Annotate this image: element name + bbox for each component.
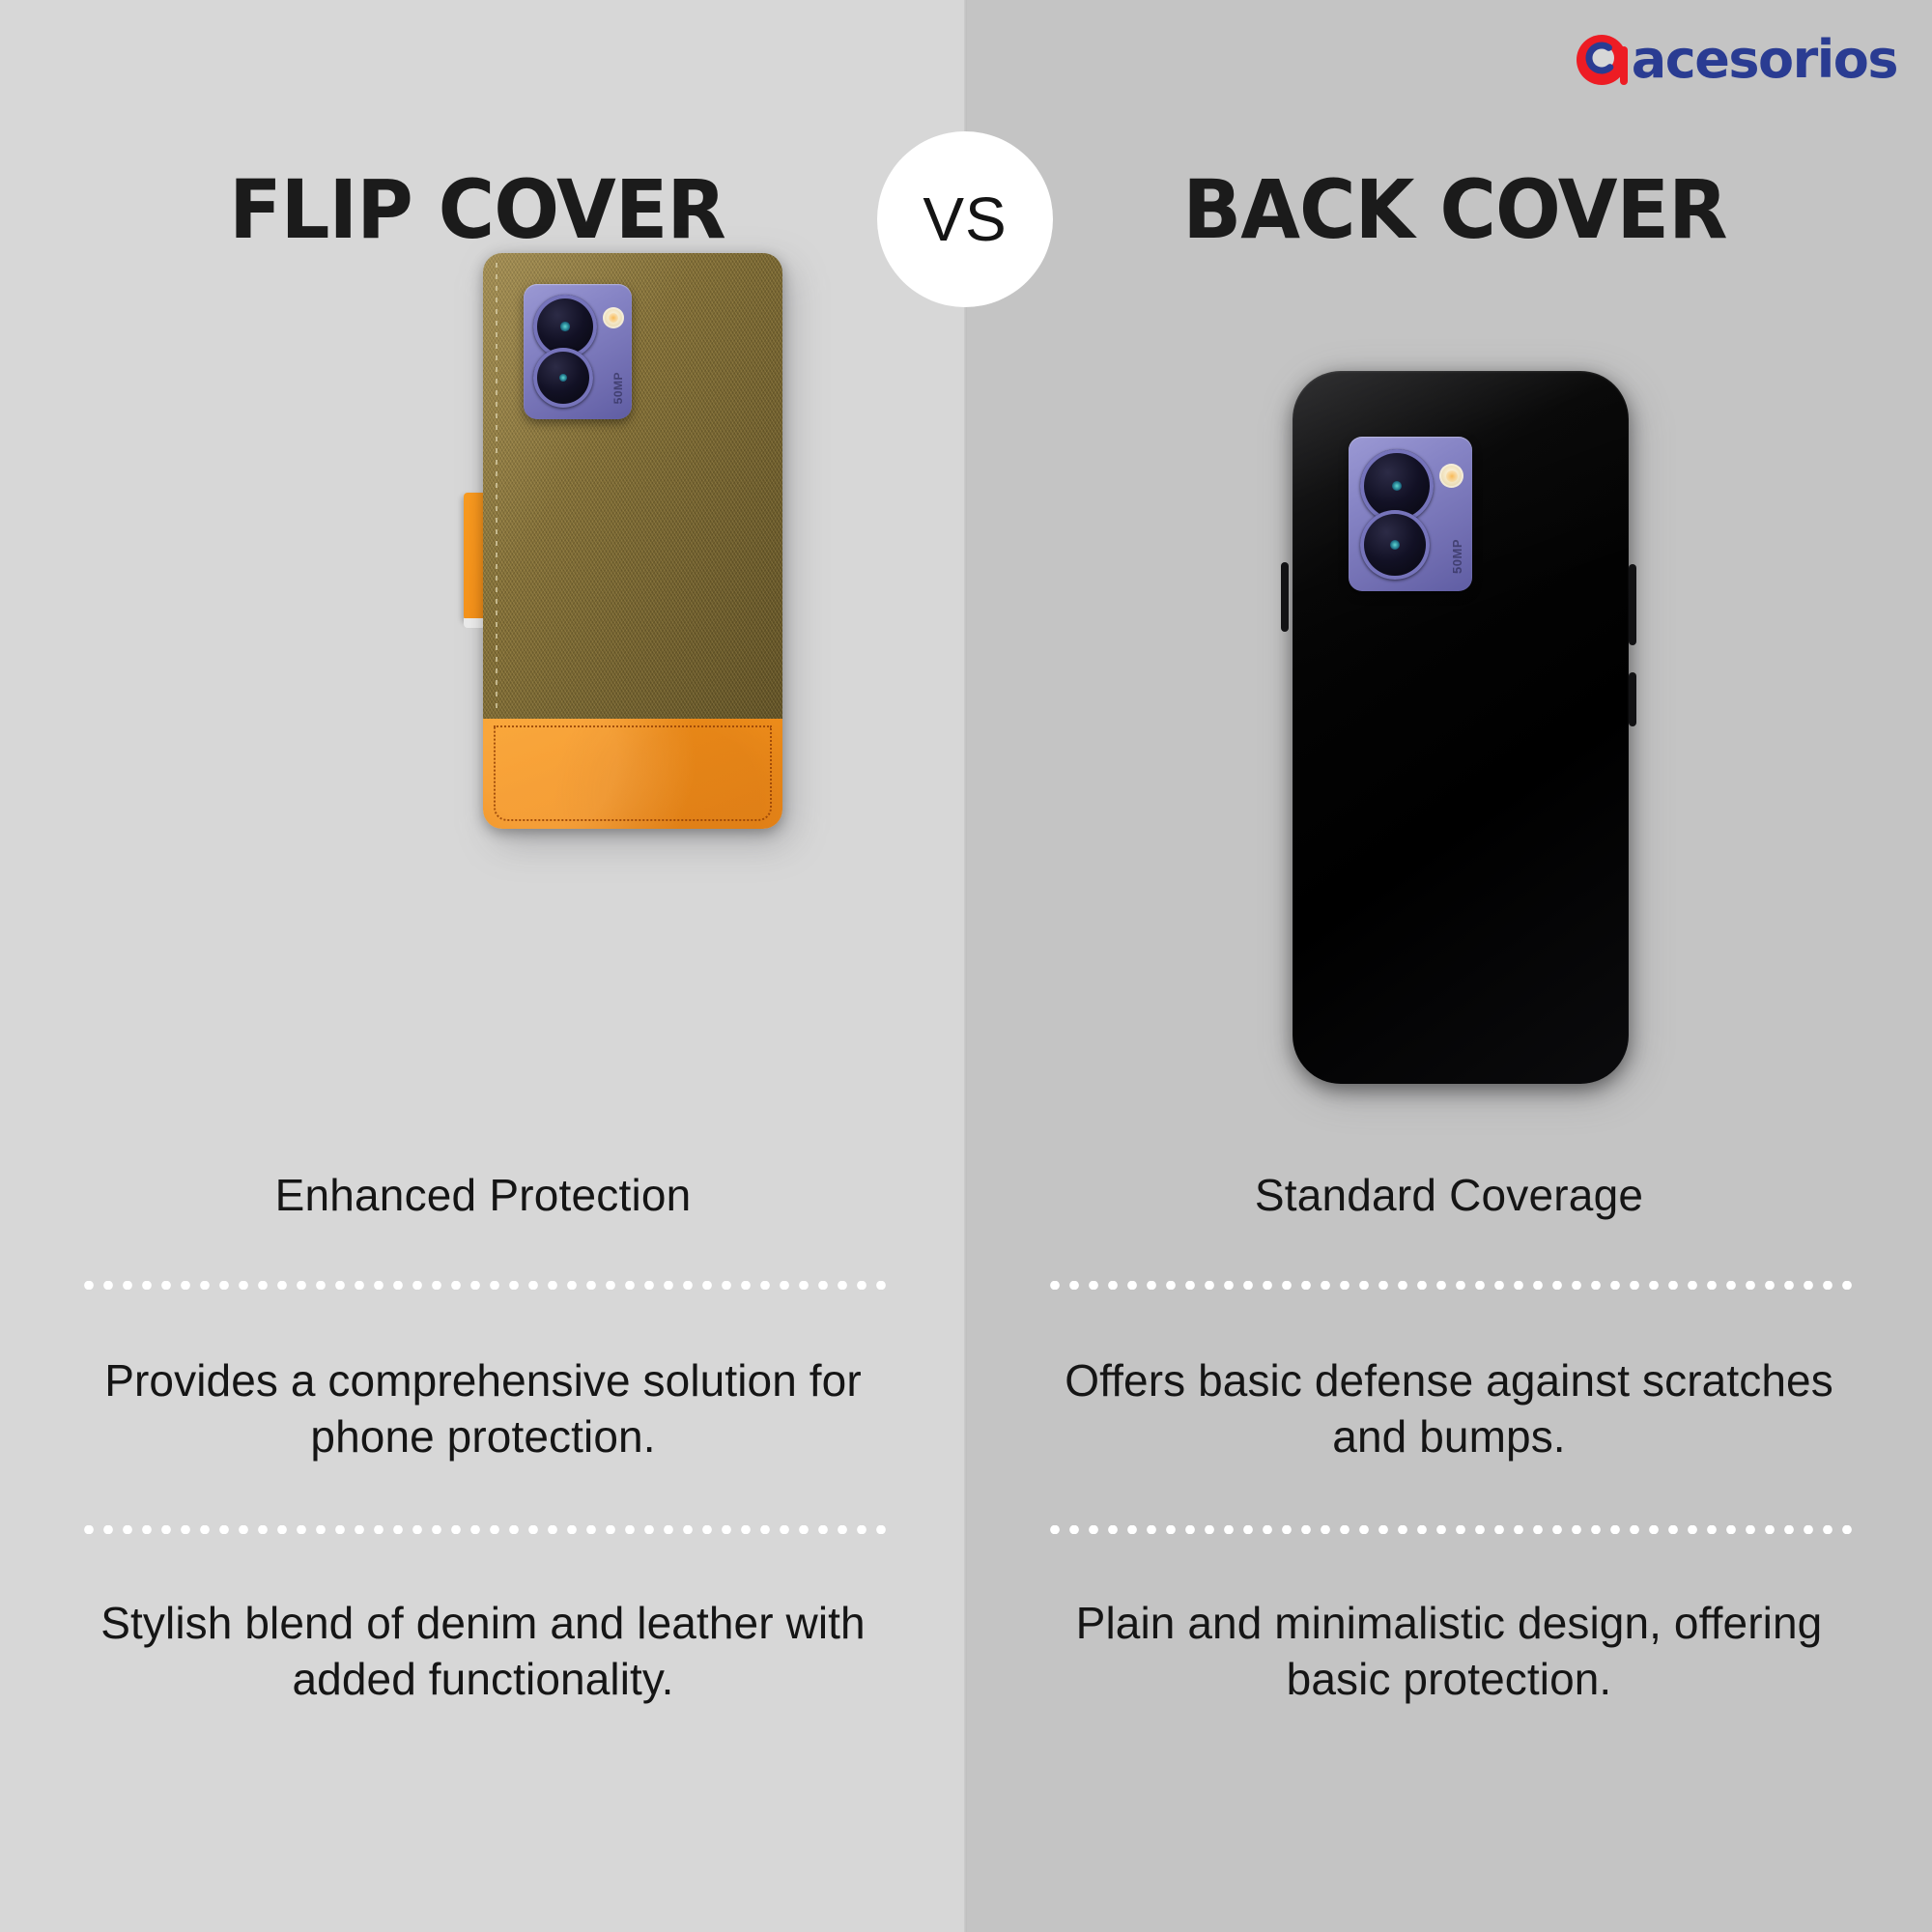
feature-point-2: Stylish blend of denim and leather with …	[0, 1596, 966, 1708]
volume-button	[1629, 564, 1636, 645]
camera-flash-icon	[603, 307, 624, 328]
vs-badge: VS	[877, 131, 1053, 307]
dotted-divider-1	[79, 1281, 887, 1290]
text-column-back-cover: Standard Coverage Offers basic defense a…	[966, 1169, 1932, 1708]
left-side-button	[1281, 562, 1289, 632]
brand-logo-text: acesorios	[1632, 34, 1897, 86]
flip-cover-body: 50MP	[483, 253, 782, 829]
flip-cover-product-image: 50MP	[240, 299, 549, 879]
camera-flash-icon	[1439, 464, 1463, 488]
camera-lens-primary-glint	[1392, 481, 1403, 492]
feature-point-1: Provides a comprehensive solution for ph…	[0, 1353, 966, 1465]
power-button	[1629, 672, 1636, 726]
dotted-divider-1	[1045, 1281, 1853, 1290]
camera-lens-secondary	[533, 348, 593, 408]
flip-cover-camera-module: 50MP	[524, 284, 632, 419]
back-cover-product-image: 50MP	[1285, 365, 1633, 1099]
camera-megapixel-label: 50MP	[1450, 539, 1464, 574]
feature-point-1: Offers basic defense against scratches a…	[966, 1353, 1932, 1465]
camera-megapixel-label: 50MP	[611, 372, 625, 404]
acesorios-mark-icon	[1572, 27, 1637, 93]
product-stage-back-cover: 50MP	[966, 348, 1932, 1140]
flip-cover-leather-stitching	[494, 725, 772, 821]
camera-lens-secondary	[1360, 510, 1430, 580]
subtitle-back-cover: Standard Coverage	[966, 1169, 1932, 1221]
camera-lens-secondary-glint	[559, 374, 568, 383]
column-title-back-cover: BACK COVER	[1042, 162, 1868, 257]
vs-badge-label: VS	[923, 184, 1007, 255]
column-title-flip-cover: FLIP COVER	[65, 162, 891, 257]
subtitle-flip-cover: Enhanced Protection	[0, 1169, 966, 1221]
comparison-infographic: acesorios FLIP COVER BACK COVER VS	[0, 0, 1932, 1932]
flip-cover-spine-stitching	[496, 263, 497, 713]
camera-lens-primary-glint	[560, 322, 569, 330]
flip-cover-leather-trim	[483, 719, 782, 829]
product-stage-flip-cover: 50MP	[0, 348, 966, 1140]
feature-point-2: Plain and minimalistic design, offering …	[966, 1596, 1932, 1708]
dotted-divider-2	[79, 1525, 887, 1534]
dotted-divider-2	[1045, 1525, 1853, 1534]
text-column-flip-cover: Enhanced Protection Provides a comprehen…	[0, 1169, 966, 1708]
brand-logo[interactable]: acesorios	[1572, 21, 1897, 99]
back-cover-camera-module: 50MP	[1349, 437, 1472, 591]
camera-lens-secondary-glint	[1390, 540, 1400, 550]
